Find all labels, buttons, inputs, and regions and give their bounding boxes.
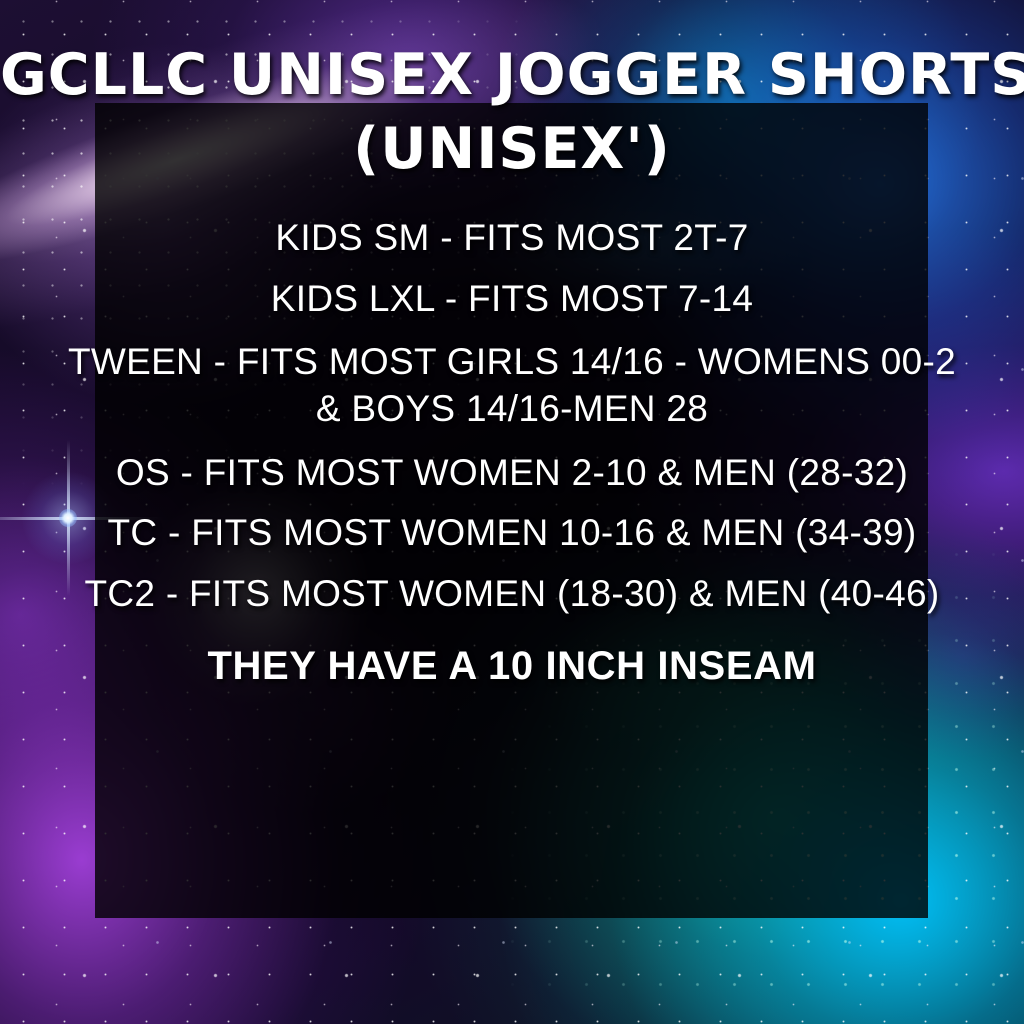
inseam-note: THEY HAVE A 10 INCH INSEAM xyxy=(0,644,1024,689)
size-row-tc: TC - FITS MOST WOMEN 10-16 & MEN (34-39) xyxy=(0,512,1024,553)
size-row-tc2: TC2 - FITS MOST WOMEN (18-30) & MEN (40-… xyxy=(0,573,1024,614)
poster-canvas: GCLLC UNISEX JOGGER SHORTS (UNISEX') KID… xyxy=(0,0,1024,1024)
size-row-kids-sm: KIDS SM - FITS MOST 2T-7 xyxy=(0,217,1024,258)
size-row-kids-lxl: KIDS LXL - FITS MOST 7-14 xyxy=(0,278,1024,319)
poster-content: GCLLC UNISEX JOGGER SHORTS (UNISEX') KID… xyxy=(0,0,1024,1024)
page-title: GCLLC UNISEX JOGGER SHORTS xyxy=(0,38,1024,113)
size-row-tween: TWEEN - FITS MOST GIRLS 14/16 - WOMENS 0… xyxy=(62,338,962,433)
size-row-os: OS - FITS MOST WOMEN 2-10 & MEN (28-32) xyxy=(0,452,1024,493)
page-subtitle: (UNISEX') xyxy=(0,113,1024,186)
